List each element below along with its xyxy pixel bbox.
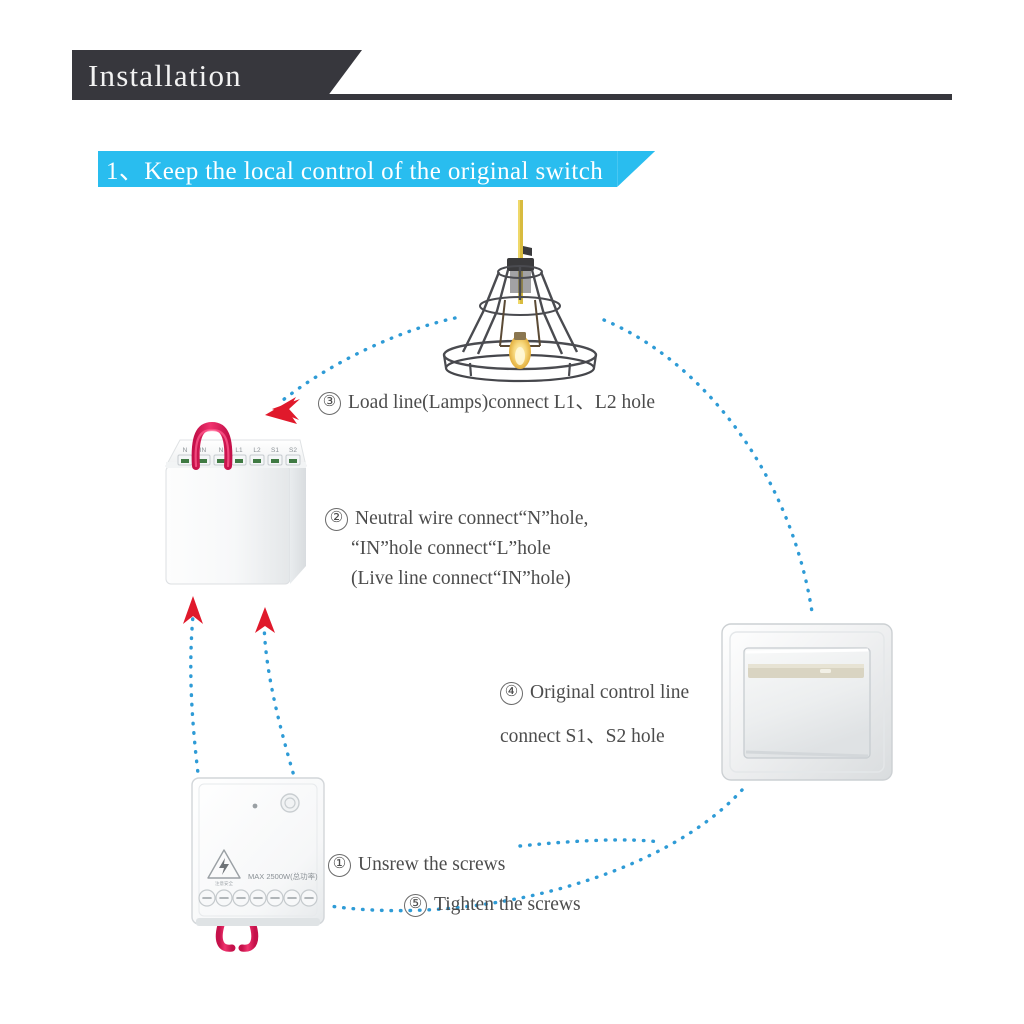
callout-line: ②Neutral wire connect“N”hole, — [325, 504, 588, 534]
callout-step-3: ③Load line(Lamps)connect L1、L2 hole — [318, 388, 655, 418]
dotted-path-step1-tail — [520, 840, 660, 846]
callout-text-3: Load line(Lamps)connect L1、L2 hole — [348, 392, 655, 413]
dotted-path-relay-to-module-left — [191, 616, 200, 790]
callout-number-1: ① — [328, 854, 351, 877]
callout-text-2-line1: Neutral wire connect“N”hole, — [355, 508, 588, 529]
callout-text-1: Unsrew the screws — [358, 854, 505, 875]
terminal-label-n1: N — [183, 447, 188, 454]
terminal-label-in: IN — [200, 447, 207, 454]
callout-number-2: ② — [325, 508, 348, 531]
switch-led-mark — [820, 669, 831, 673]
pendant-cage-lamp — [444, 200, 596, 381]
terminal-label-n2: N — [219, 447, 224, 454]
installation-diagram-page: Installation 1、Keep the local control of… — [0, 0, 1024, 1024]
callout-step-5: ⑤Tighten the screws — [404, 890, 581, 920]
terminal-label-s2: S2 — [289, 447, 297, 454]
callout-step-1: ①Unsrew the screws — [328, 850, 505, 880]
callout-step-4: ④Original control line connect S1、S2 hol… — [500, 671, 689, 759]
dotted-path-lamp-to-switch — [604, 320, 812, 612]
terminal-label-s1: S1 — [271, 447, 279, 454]
relay-button — [281, 794, 299, 812]
original-wall-switch — [722, 624, 892, 780]
smart-switch-module: N IN N L1 L2 S1 S2 — [166, 426, 306, 584]
relay-controller-box: 注意安全 MAX 2500W(总功率) — [192, 778, 324, 948]
terminal-label-l1: L1 — [235, 447, 243, 454]
relay-warning-label: 注意安全 — [215, 880, 233, 887]
arrow-module-bottom-right — [255, 607, 275, 633]
callout-text-5: Tighten the screws — [434, 894, 581, 915]
callout-step-2: ②Neutral wire connect“N”hole, “IN”hole c… — [325, 504, 588, 594]
terminal-label-l2: L2 — [253, 447, 261, 454]
callout-text-4-line2: connect S1、S2 hole — [500, 715, 689, 759]
callout-line: ④Original control line — [500, 671, 689, 715]
callout-text-2-line2: “IN”hole connect“L”hole — [325, 534, 588, 564]
relay-led-indicator — [253, 804, 258, 809]
callout-number-3: ③ — [318, 392, 341, 415]
callout-number-5: ⑤ — [404, 894, 427, 917]
callout-number-4: ④ — [500, 682, 523, 705]
arrow-to-module-top-b — [265, 397, 297, 424]
relay-rating-label: MAX 2500W(总功率) — [248, 871, 318, 881]
callout-text-2-line3: (Live line connect“IN”hole) — [325, 564, 588, 594]
callout-text-4-line1: Original control line — [530, 682, 689, 703]
